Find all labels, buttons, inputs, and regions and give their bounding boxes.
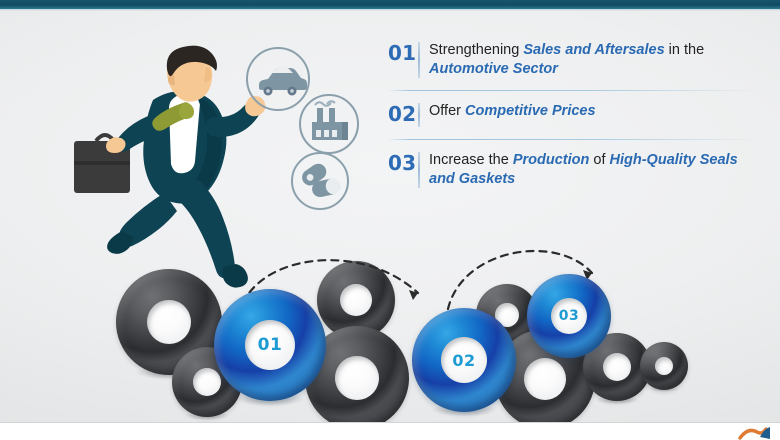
ring-hole xyxy=(524,358,566,400)
objective-text-1: Strengthening Sales and Aftersales in th… xyxy=(429,41,760,79)
objective-number-1: 01 xyxy=(388,41,418,63)
numbered-ring-02[interactable]: 02 xyxy=(412,308,516,412)
car-icon xyxy=(248,49,308,109)
seals-gaskets-icon xyxy=(293,154,347,208)
numbered-ring-01-label: 01 xyxy=(214,289,326,401)
numbered-ring-01[interactable]: 01 xyxy=(214,289,326,401)
numbered-ring-03-label: 03 xyxy=(527,274,611,358)
objectives-list: 01 Strengthening Sales and Aftersales in… xyxy=(388,37,760,194)
objective-separator-2 xyxy=(388,139,760,140)
infographic-canvas: 01 Strengthening Sales and Aftersales in… xyxy=(0,0,780,440)
objective-text-1-part-1: Strengthening xyxy=(429,42,523,58)
ring-hole xyxy=(655,357,673,375)
objective-divider-vertical-1 xyxy=(418,42,420,78)
objective-text-2-part-2: Competitive Prices xyxy=(465,103,596,119)
ring-hole xyxy=(147,300,191,344)
numbered-ring-02-label: 02 xyxy=(412,308,516,412)
brand-logo-partial[interactable] xyxy=(738,425,772,440)
numbered-ring-03[interactable]: 03 xyxy=(527,274,611,358)
objective-row-2[interactable]: 02 Offer Competitive Prices xyxy=(388,98,760,133)
decorative-ring-far-right-small xyxy=(640,342,688,390)
objective-text-3-part-3: of xyxy=(589,152,609,168)
objective-text-3-part-1: Increase the xyxy=(429,152,513,168)
objective-separator-1 xyxy=(388,90,760,91)
ring-hole xyxy=(340,284,372,316)
objective-divider-vertical-3 xyxy=(418,152,420,188)
icon-bubble-seals-gaskets xyxy=(291,152,349,210)
objective-text-1-part-2: Sales and Aftersales xyxy=(523,42,664,58)
objective-text-1-part-3: in the xyxy=(665,42,705,58)
icon-bubble-factory xyxy=(299,94,359,154)
top-accent-bar xyxy=(0,0,780,9)
objective-row-1[interactable]: 01 Strengthening Sales and Aftersales in… xyxy=(388,37,760,84)
objective-number-2: 02 xyxy=(388,102,418,124)
objective-text-1-part-4: Automotive Sector xyxy=(429,61,558,77)
factory-icon xyxy=(301,96,357,152)
poster-body: 01 Strengthening Sales and Aftersales in… xyxy=(0,11,780,422)
footer-strip xyxy=(0,422,780,440)
objective-text-2: Offer Competitive Prices xyxy=(429,102,760,121)
objective-number-3: 03 xyxy=(388,151,418,173)
objective-text-3-part-2: Production xyxy=(513,152,590,168)
objective-divider-vertical-2 xyxy=(418,103,420,127)
objective-row-3[interactable]: 03 Increase the Production of High-Quali… xyxy=(388,147,760,194)
objective-text-3: Increase the Production of High-Quality … xyxy=(429,151,760,189)
ring-hole xyxy=(335,356,379,400)
objective-text-2-part-1: Offer xyxy=(429,103,465,119)
